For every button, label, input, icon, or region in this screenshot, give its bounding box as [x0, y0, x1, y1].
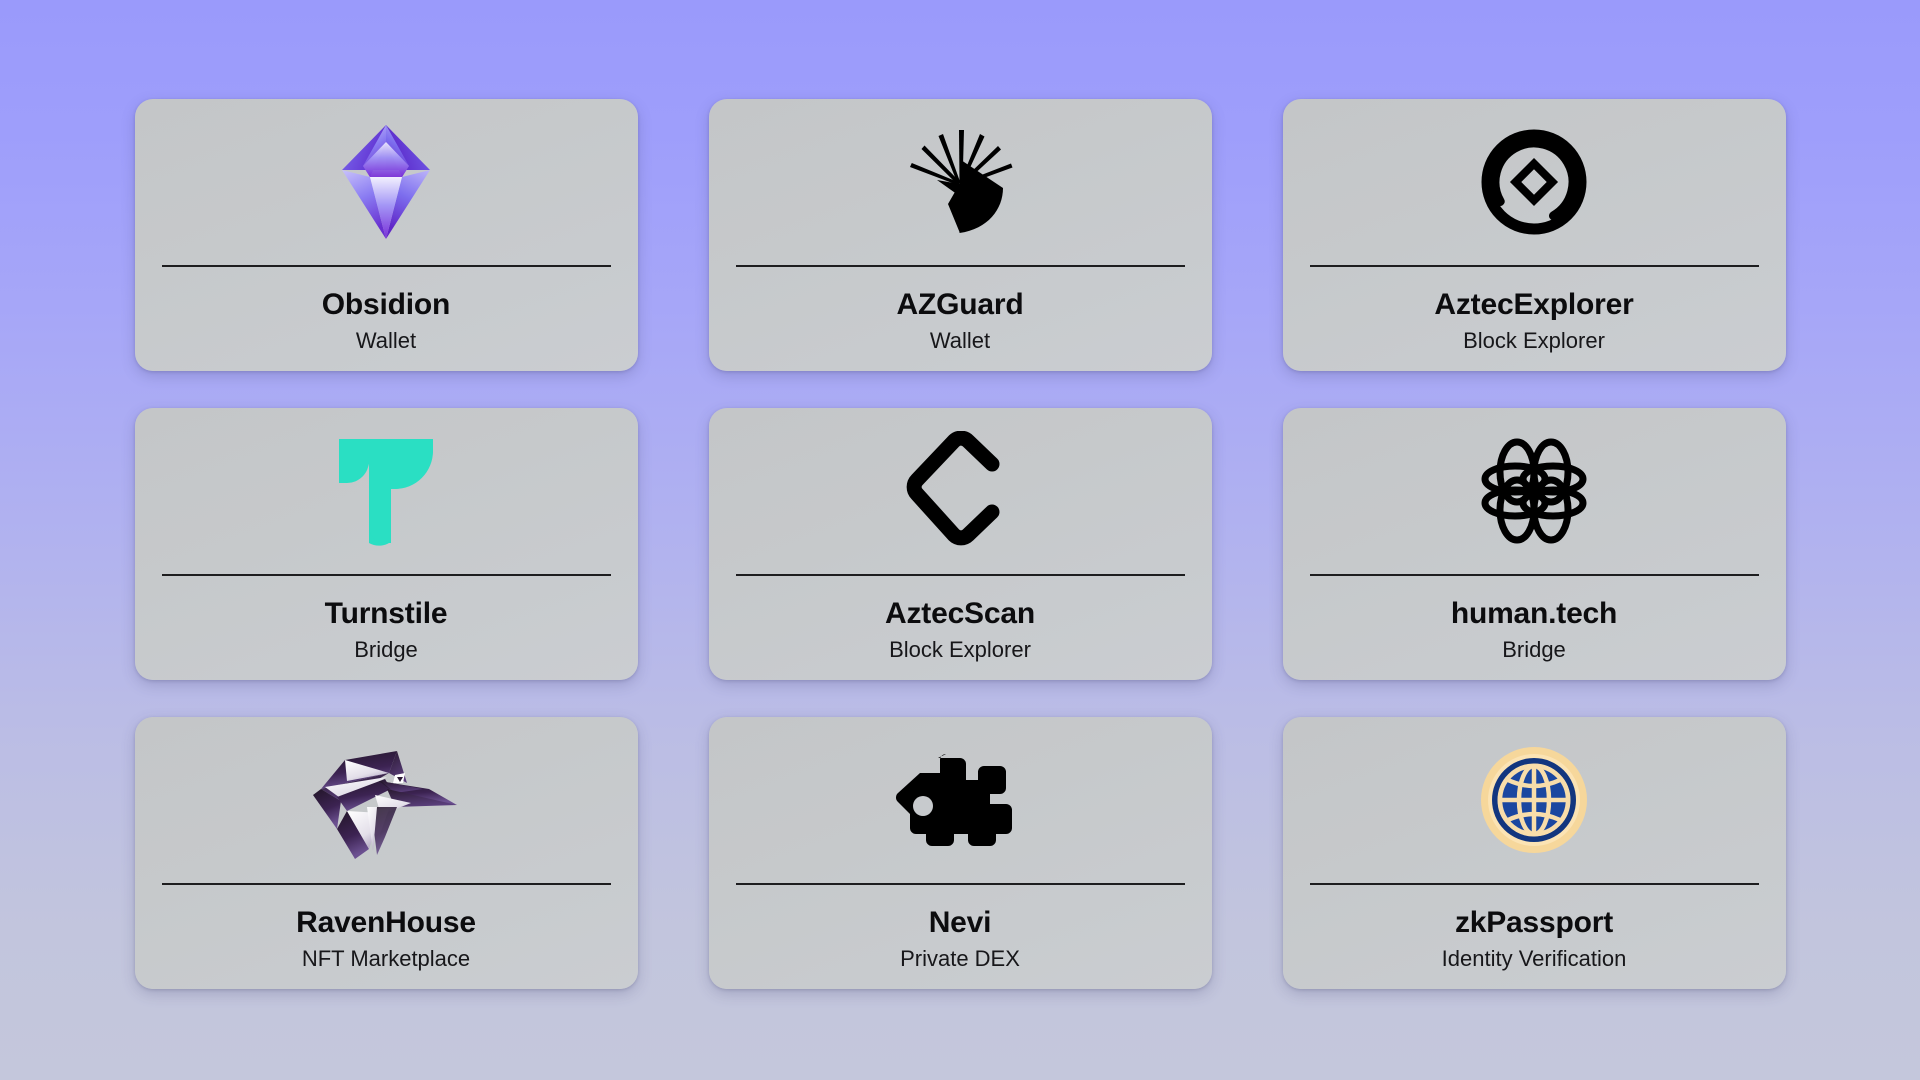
app-card-humantech[interactable]: human.tech Bridge [1283, 408, 1786, 680]
card-text: zkPassport Identity Verification [1283, 885, 1786, 989]
nevi-puzzle-icon [894, 744, 1026, 856]
aztecexplorer-logo [1283, 99, 1786, 265]
card-text: Turnstile Bridge [135, 576, 638, 680]
app-name: AztecScan [885, 598, 1035, 630]
ravenhouse-logo [135, 717, 638, 883]
app-name: AZGuard [897, 289, 1024, 321]
azguard-burst-icon [902, 122, 1018, 242]
turnstile-t-icon [331, 431, 441, 551]
app-card-aztecscan[interactable]: AztecScan Block Explorer [709, 408, 1212, 680]
app-category: Block Explorer [1463, 329, 1605, 353]
app-name: Turnstile [325, 598, 448, 630]
app-card-obsidion[interactable]: Obsidion Wallet [135, 99, 638, 371]
ravenhouse-raven-icon [311, 737, 461, 863]
obsidion-logo [135, 99, 638, 265]
zkpassport-logo [1283, 717, 1786, 883]
app-card-turnstile[interactable]: Turnstile Bridge [135, 408, 638, 680]
app-name: RavenHouse [296, 907, 476, 939]
app-card-nevi[interactable]: Nevi Private DEX [709, 717, 1212, 989]
app-card-zkpassport[interactable]: zkPassport Identity Verification [1283, 717, 1786, 989]
app-name: Obsidion [322, 289, 450, 321]
app-card-ravenhouse[interactable]: RavenHouse NFT Marketplace [135, 717, 638, 989]
card-text: AztecScan Block Explorer [709, 576, 1212, 680]
app-category: Block Explorer [889, 638, 1031, 662]
app-category: Bridge [354, 638, 418, 662]
aztecexplorer-ring-icon [1478, 126, 1590, 238]
app-name: zkPassport [1455, 907, 1613, 939]
zkpassport-globe-icon [1478, 744, 1590, 856]
app-category: NFT Marketplace [302, 947, 470, 971]
app-card-azguard[interactable]: AZGuard Wallet [709, 99, 1212, 371]
app-name: Nevi [929, 907, 992, 939]
aztecscan-logo [709, 408, 1212, 574]
card-text: Obsidion Wallet [135, 267, 638, 371]
app-name: AztecExplorer [1434, 289, 1633, 321]
card-text: AztecExplorer Block Explorer [1283, 267, 1786, 371]
humantech-logo [1283, 408, 1786, 574]
turnstile-logo [135, 408, 638, 574]
card-text: Nevi Private DEX [709, 885, 1212, 989]
obsidion-gem-icon [332, 122, 440, 242]
nevi-logo [709, 717, 1212, 883]
humantech-atom-icon [1475, 435, 1593, 547]
app-name: human.tech [1451, 598, 1617, 630]
app-card-aztecexplorer[interactable]: AztecExplorer Block Explorer [1283, 99, 1786, 371]
app-category: Private DEX [900, 947, 1020, 971]
app-category: Wallet [930, 329, 990, 353]
app-category: Identity Verification [1442, 947, 1627, 971]
app-category: Wallet [356, 329, 416, 353]
aztecscan-diamond-c-icon [906, 431, 1014, 551]
card-text: AZGuard Wallet [709, 267, 1212, 371]
app-category: Bridge [1502, 638, 1566, 662]
app-card-grid: Obsidion Wallet [0, 0, 1920, 1080]
card-text: human.tech Bridge [1283, 576, 1786, 680]
azguard-logo [709, 99, 1212, 265]
card-text: RavenHouse NFT Marketplace [135, 885, 638, 989]
